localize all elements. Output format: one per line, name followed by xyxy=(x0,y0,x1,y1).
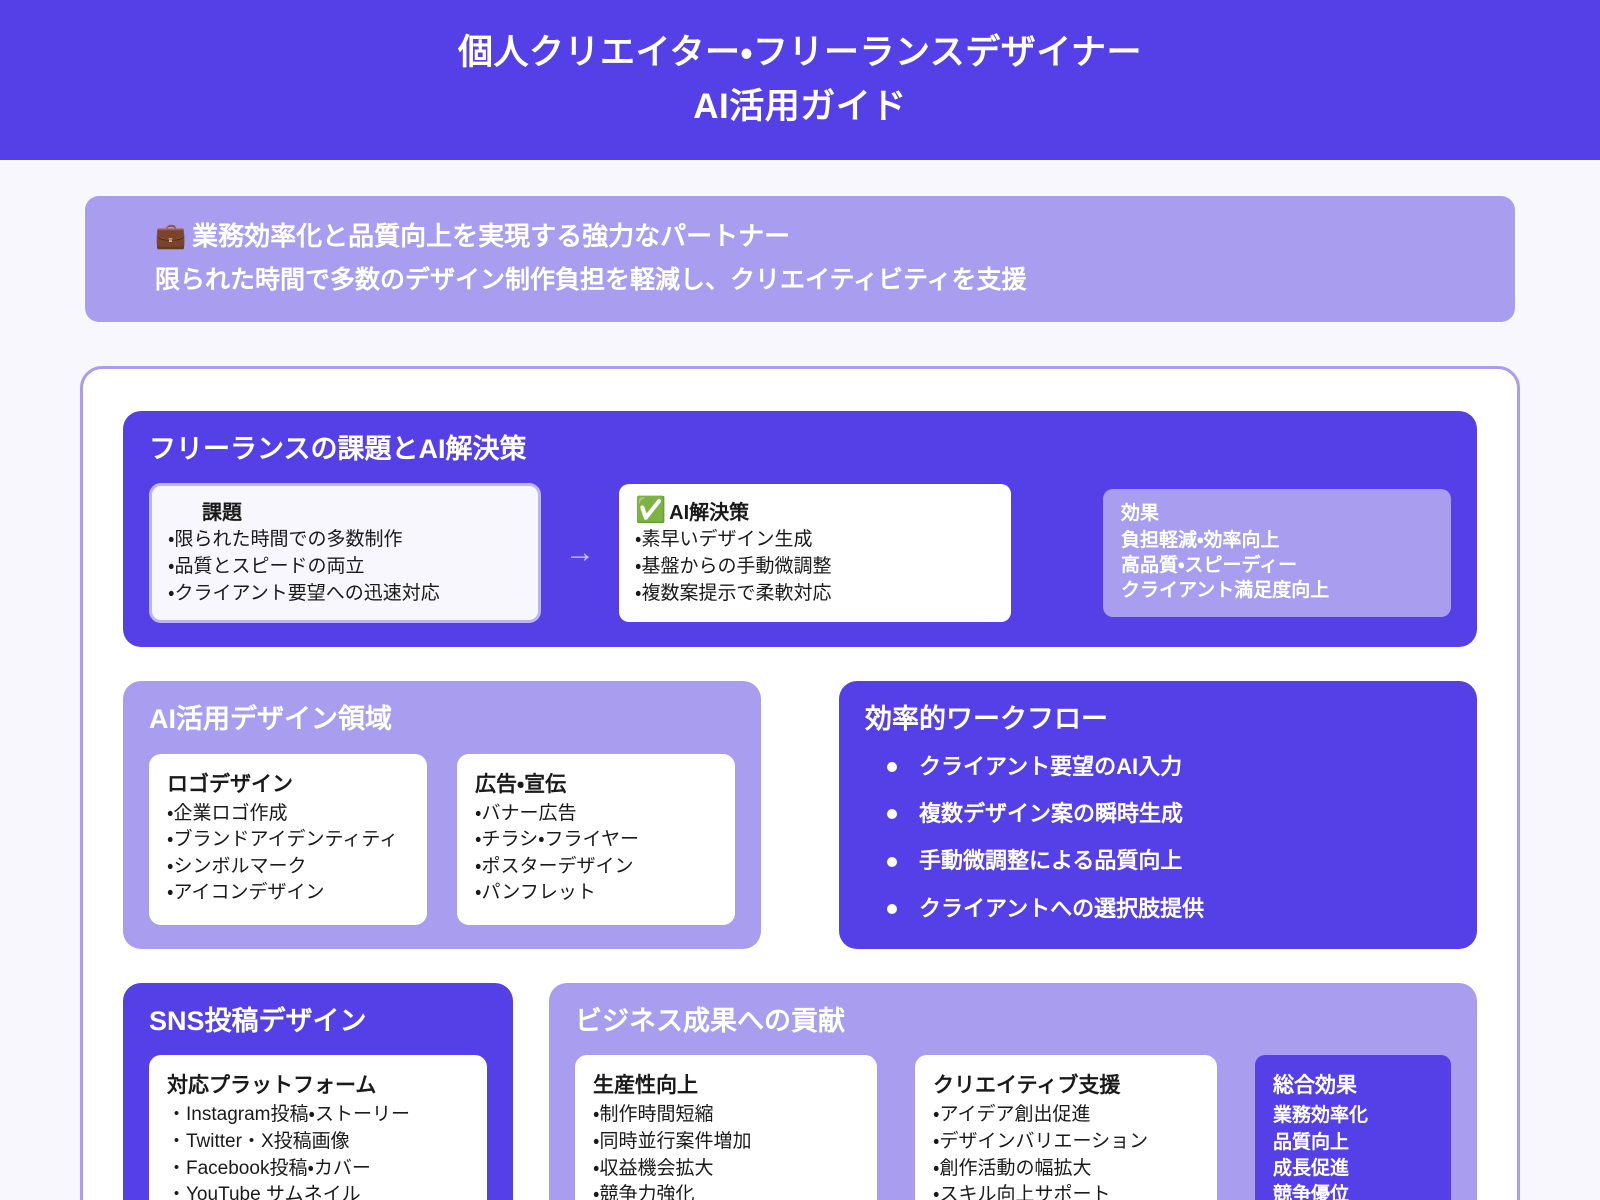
solution-heading: AI解決策 xyxy=(669,496,749,525)
list-item: ・アイデア創出促進 xyxy=(933,1102,1199,1129)
effect-heading: 効果 xyxy=(1121,501,1433,528)
bullet-dot-icon xyxy=(887,857,897,867)
list-item: クライアント満足度向上 xyxy=(1121,578,1433,603)
list-item: ・ブランドアイデンティティ xyxy=(167,827,409,854)
list-item: ・アイコンデザイン xyxy=(167,880,409,907)
list-item: ・Twitter・X投稿画像 xyxy=(167,1129,469,1156)
list-item: 負担軽減・効率向上 xyxy=(1121,528,1433,553)
advertising-card: 広告・宣伝 ・バナー広告 ・チラシ・フライヤー ・ポスターデザイン ・パンフレッ… xyxy=(457,754,735,925)
list-item: ・素早いデザイン生成 xyxy=(635,527,995,554)
business-cards: 生産性向上 ・制作時間短縮 ・同時並行案件増加 ・収益機会拡大 ・競争力強化 ク… xyxy=(575,1055,1451,1200)
creative-support-card: クリエイティブ支援 ・アイデア創出促進 ・デザインバリエーション ・創作活動の幅… xyxy=(915,1055,1217,1200)
total-effect-card: 総合効果 業務効率化 品質向上 成長促進 競争優位 xyxy=(1255,1055,1451,1200)
logo-design-heading: ロゴデザイン xyxy=(167,768,409,798)
platform-heading: 対応プラットフォーム xyxy=(167,1069,469,1099)
list-item: 業務効率化 xyxy=(1273,1103,1433,1129)
list-item: ・シンボルマーク xyxy=(167,854,409,881)
advertising-list: ・バナー広告 ・チラシ・フライヤー ・ポスターデザイン ・パンフレット xyxy=(475,801,717,907)
section-business: ビジネス成果への貢献 生産性向上 ・制作時間短縮 ・同時並行案件増加 ・収益機会… xyxy=(549,983,1477,1200)
effect-list: 負担軽減・効率向上 高品質・スピーディー クライアント満足度向上 xyxy=(1121,528,1433,603)
list-item: ・制作時間短縮 xyxy=(593,1102,859,1129)
list-item: 競争優位 xyxy=(1273,1182,1433,1200)
row-design-workflow: AI活用デザイン領域 ロゴデザイン ・企業ロゴ作成 ・ブランドアイデンティティ … xyxy=(123,681,1477,949)
section-business-title: ビジネス成果への貢献 xyxy=(575,1005,1451,1037)
list-item: 高品質・スピーディー xyxy=(1121,553,1433,578)
platform-list: ・Instagram投稿・ストーリー ・Twitter・X投稿画像 ・Faceb… xyxy=(167,1102,469,1200)
challenge-card: 課題 ・限られた時間での多数制作 ・品質とスピードの両立 ・クライアント要望への… xyxy=(149,483,541,623)
list-item: ・スキル向上サポート xyxy=(933,1182,1199,1200)
content-frame: フリーランスの課題とAI解決策 課題 ・限られた時間での多数制作 ・品質とスピー… xyxy=(80,366,1520,1200)
subtitle-banner: 💼 業務効率化と品質向上を実現する強力なパートナー 限られた時間で多数のデザイン… xyxy=(85,196,1515,322)
platform-card: 対応プラットフォーム ・Instagram投稿・ストーリー ・Twitter・X… xyxy=(149,1055,487,1200)
list-item: ・競争力強化 xyxy=(593,1182,859,1200)
list-item: クライアント要望のAI入力 xyxy=(887,754,1451,780)
creative-support-list: ・アイデア創出促進 ・デザインバリエーション ・創作活動の幅拡大 ・スキル向上サ… xyxy=(933,1102,1199,1200)
challenge-solution-flow: 課題 ・限られた時間での多数制作 ・品質とスピードの両立 ・クライアント要望への… xyxy=(149,483,1451,623)
page-title-line-2: AI活用ガイド xyxy=(693,87,907,127)
list-item: ・ポスターデザイン xyxy=(475,854,717,881)
total-effect-list: 業務効率化 品質向上 成長促進 競争優位 xyxy=(1273,1103,1433,1200)
section-workflow: 効率的ワークフロー クライアント要望のAI入力 複数デザイン案の瞬時生成 手動微… xyxy=(839,681,1477,949)
subtitle-main-text: 業務効率化と品質向上を実現する強力なパートナー xyxy=(192,218,790,256)
solution-list: ・素早いデザイン生成 ・基盤からの手動微調整 ・複数案提示で柔軟対応 xyxy=(635,527,995,608)
list-item: ・創作活動の幅拡大 xyxy=(933,1156,1199,1183)
list-item: ・チラシ・フライヤー xyxy=(475,827,717,854)
effect-card: 効果 負担軽減・効率向上 高品質・スピーディー クライアント満足度向上 xyxy=(1103,489,1451,617)
workflow-item-label: クライアントへの選択肢提供 xyxy=(919,896,1204,922)
list-item: ・収益機会拡大 xyxy=(593,1156,859,1183)
advertising-heading: 広告・宣伝 xyxy=(475,768,717,798)
logo-design-card: ロゴデザイン ・企業ロゴ作成 ・ブランドアイデンティティ ・シンボルマーク ・ア… xyxy=(149,754,427,925)
productivity-list: ・制作時間短縮 ・同時並行案件増加 ・収益機会拡大 ・競争力強化 xyxy=(593,1102,859,1200)
list-item: ・バナー広告 xyxy=(475,801,717,828)
workflow-list: クライアント要望のAI入力 複数デザイン案の瞬時生成 手動微調整による品質向上 … xyxy=(865,754,1451,923)
section-challenge-solution-title: フリーランスの課題とAI解決策 xyxy=(149,433,1451,465)
list-item: ・デザインバリエーション xyxy=(933,1129,1199,1156)
check-mark-icon: ✅ xyxy=(635,498,666,523)
workflow-item-label: クライアント要望のAI入力 xyxy=(919,754,1182,780)
bullet-dot-icon xyxy=(887,809,897,819)
challenge-list: ・限られた時間での多数制作 ・品質とスピードの両立 ・クライアント要望への迅速対… xyxy=(168,527,522,608)
creative-support-heading: クリエイティブ支援 xyxy=(933,1069,1199,1099)
row-sns-business: SNS投稿デザイン 対応プラットフォーム ・Instagram投稿・ストーリー … xyxy=(123,983,1477,1200)
list-item: 品質向上 xyxy=(1273,1130,1433,1156)
list-item: ・限られた時間での多数制作 xyxy=(168,527,522,554)
list-item: ・クライアント要望への迅速対応 xyxy=(168,581,522,608)
list-item: ・品質とスピードの両立 xyxy=(168,554,522,581)
section-design-areas: AI活用デザイン領域 ロゴデザイン ・企業ロゴ作成 ・ブランドアイデンティティ … xyxy=(123,681,761,949)
page-title-line-1: 個人クリエイター・フリーランスデザイナー xyxy=(458,33,1142,73)
list-item: 成長促進 xyxy=(1273,1156,1433,1182)
productivity-card: 生産性向上 ・制作時間短縮 ・同時並行案件増加 ・収益機会拡大 ・競争力強化 xyxy=(575,1055,877,1200)
workflow-item-label: 複数デザイン案の瞬時生成 xyxy=(919,801,1183,827)
list-item: ・Facebook投稿・カバー xyxy=(167,1156,469,1183)
list-item: 手動微調整による品質向上 xyxy=(887,848,1451,874)
briefcase-icon: 💼 xyxy=(155,224,186,249)
workflow-item-label: 手動微調整による品質向上 xyxy=(919,848,1182,874)
challenge-heading: 課題 xyxy=(168,496,522,525)
list-item: ・基盤からの手動微調整 xyxy=(635,554,995,581)
list-item: ・YouTube サムネイル xyxy=(167,1182,469,1200)
flow-arrow-icon: → xyxy=(541,538,619,568)
section-sns-title: SNS投稿デザイン xyxy=(149,1005,487,1037)
section-design-areas-title: AI活用デザイン領域 xyxy=(149,703,735,735)
list-item: ・複数案提示で柔軟対応 xyxy=(635,581,995,608)
section-challenge-solution: フリーランスの課題とAI解決策 課題 ・限られた時間での多数制作 ・品質とスピー… xyxy=(123,411,1477,647)
bullet-dot-icon xyxy=(887,762,897,772)
section-workflow-title: 効率的ワークフロー xyxy=(865,703,1451,735)
productivity-heading: 生産性向上 xyxy=(593,1069,859,1099)
solution-heading-row: ✅ AI解決策 xyxy=(635,496,995,525)
bullet-dot-icon xyxy=(887,904,897,914)
subtitle-sub-text: 限られた時間で多数のデザイン制作負担を軽減し、クリエイティビティを支援 xyxy=(155,262,1445,298)
subtitle-main-row: 💼 業務効率化と品質向上を実現する強力なパートナー xyxy=(155,218,1445,256)
logo-design-list: ・企業ロゴ作成 ・ブランドアイデンティティ ・シンボルマーク ・アイコンデザイン xyxy=(167,801,409,907)
list-item: ・企業ロゴ作成 xyxy=(167,801,409,828)
list-item: 複数デザイン案の瞬時生成 xyxy=(887,801,1451,827)
section-sns: SNS投稿デザイン 対応プラットフォーム ・Instagram投稿・ストーリー … xyxy=(123,983,513,1200)
total-effect-heading: 総合効果 xyxy=(1273,1069,1433,1099)
page-header: 個人クリエイター・フリーランスデザイナー AI活用ガイド xyxy=(0,0,1600,160)
design-area-cards: ロゴデザイン ・企業ロゴ作成 ・ブランドアイデンティティ ・シンボルマーク ・ア… xyxy=(149,754,735,925)
list-item: ・同時並行案件増加 xyxy=(593,1129,859,1156)
list-item: ・Instagram投稿・ストーリー xyxy=(167,1102,469,1129)
list-item: クライアントへの選択肢提供 xyxy=(887,896,1451,922)
list-item: ・パンフレット xyxy=(475,880,717,907)
solution-card: ✅ AI解決策 ・素早いデザイン生成 ・基盤からの手動微調整 ・複数案提示で柔軟… xyxy=(619,484,1011,622)
